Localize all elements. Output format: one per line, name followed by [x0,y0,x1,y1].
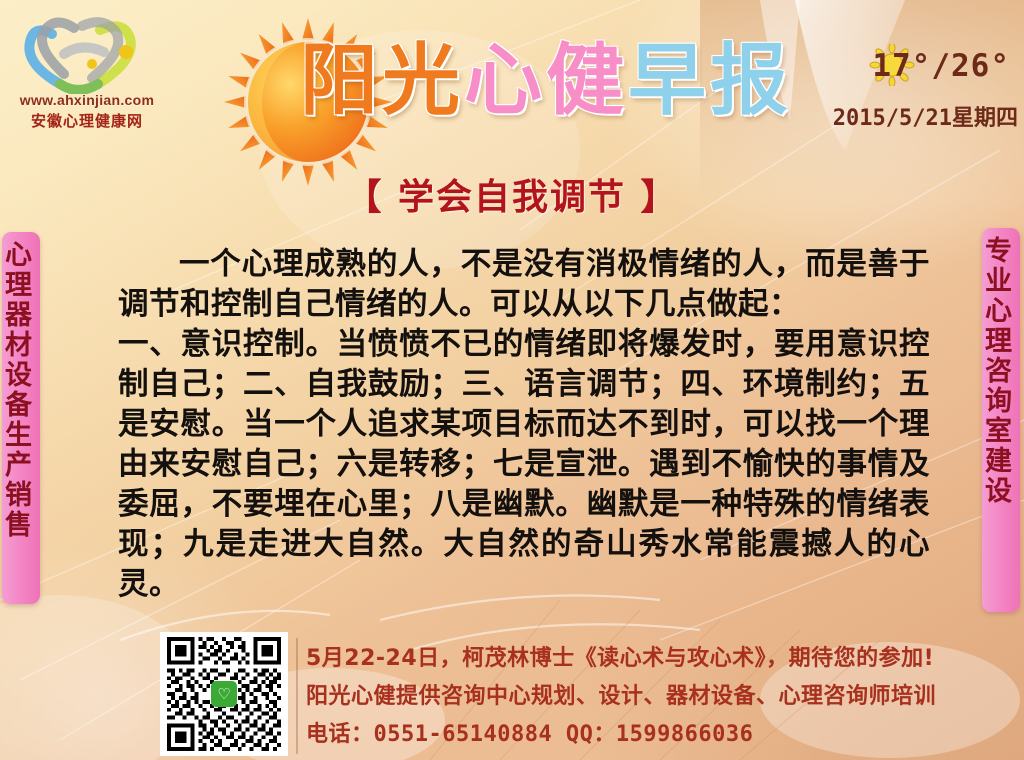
footer-line-event: 5月22-24日，柯茂林博士《读心术与攻心术》，期待您的参加! [306,640,934,672]
footer-line-contact: 电话：0551-65140884 QQ：1599866036 [306,716,753,748]
poster-root: www.ahxinjian.com 安徽心理健康网 [0,0,1024,760]
footer-divider [296,638,298,754]
footer-line-services: 阳光心健提供咨询中心规划、设计、器材设备、心理咨询师培训 [306,678,936,710]
heart-ribbon-logo-icon [12,8,162,94]
side-tab-left[interactable]: 心理器材设备生产销售 [2,232,40,604]
logo-url-text: www.ahxinjian.com [12,92,162,108]
masthead-part-1: 阳光 [300,36,464,126]
date-label: 2015/5/21星期四 [833,100,1018,132]
masthead-part-3: 早报 [628,36,792,126]
masthead-title: 阳光心健早报 [300,42,792,120]
qr-code[interactable]: ♡ [160,632,288,756]
article-paragraph: 一、意识控制。当愤愤不已的情绪即将爆发时，要用意识控制自己；二、自我鼓励；三、语… [118,324,930,604]
heart-icon: ♡ [211,681,237,707]
logo-site-name: 安徽心理健康网 [12,110,162,131]
masthead-part-2: 心健 [464,36,628,126]
side-tab-left-label: 心理器材设备生产销售 [2,232,29,540]
article-body: 一个心理成熟的人，不是没有消极情绪的人，而是善于调节和控制自己情绪的人。可以从以… [118,244,930,604]
article-paragraph: 一个心理成熟的人，不是没有消极情绪的人，而是善于调节和控制自己情绪的人。可以从以… [118,244,930,324]
article-subtitle: 【 学会自我调节 】 [0,168,1024,220]
side-tab-right-label: 专业心理咨询室建设 [982,228,1009,506]
weather-temperature: 17°/26° [872,48,1010,84]
side-tab-right[interactable]: 专业心理咨询室建设 [982,228,1020,612]
site-logo[interactable]: www.ahxinjian.com 安徽心理健康网 [12,8,162,128]
weather-widget: 17°/26° [804,44,1014,86]
